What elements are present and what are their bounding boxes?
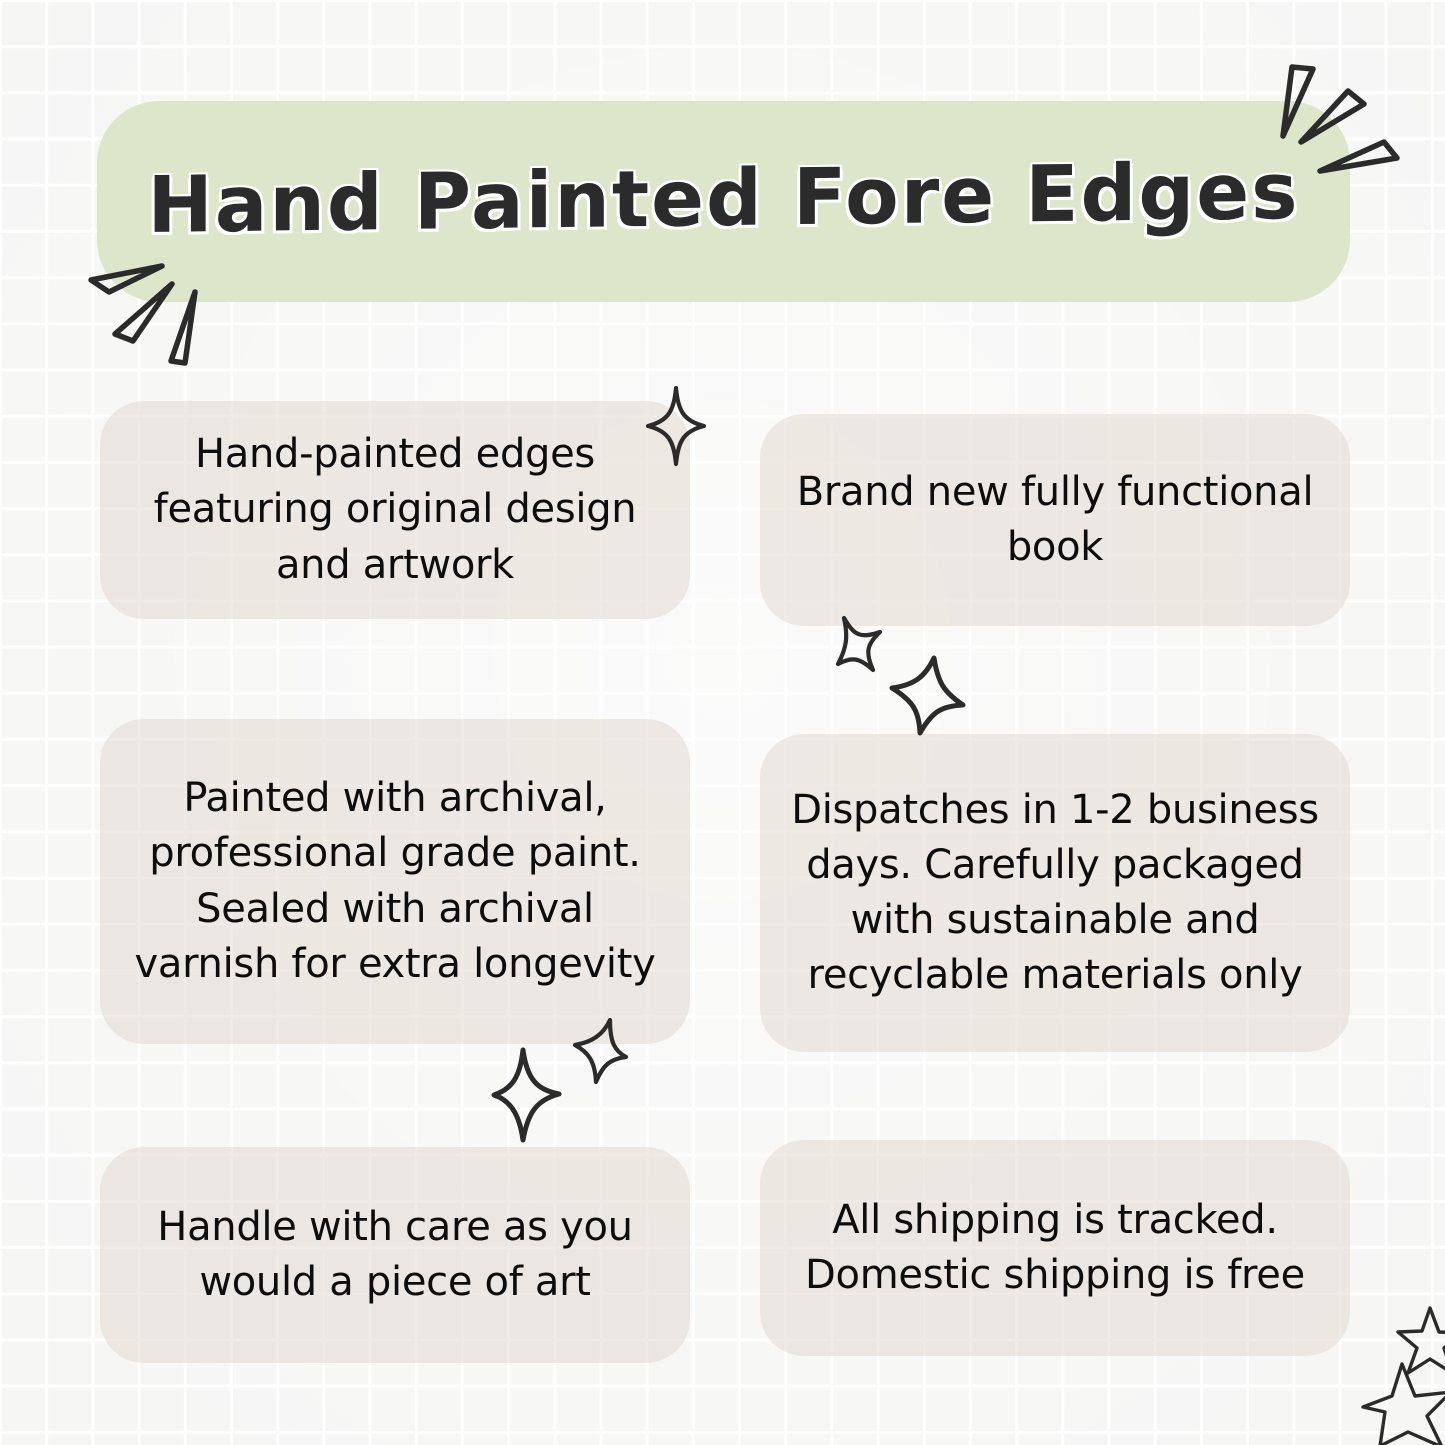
title-banner: Hand Painted Fore Edges (97, 101, 1350, 302)
infographic-canvas: Hand Painted Fore Edges Hand-painted edg… (0, 0, 1445, 1445)
feature-card: Hand-painted edges featuring original de… (100, 401, 690, 619)
feature-card-text: Handle with care as you would a piece of… (128, 1200, 662, 1310)
feature-card: Dispatches in 1-2 business days. Careful… (760, 734, 1350, 1052)
feature-card: Handle with care as you would a piece of… (100, 1147, 690, 1363)
feature-card-text: Painted with archival, professional grad… (128, 771, 662, 992)
page-title: Hand Painted Fore Edges (97, 93, 1350, 309)
feature-card-text: Brand new fully functional book (788, 465, 1322, 575)
feature-card-grid: Hand-painted edges featuring original de… (100, 398, 1350, 1363)
feature-card-text: Dispatches in 1-2 business days. Careful… (788, 783, 1322, 1004)
feature-card-text: All shipping is tracked. Domestic shippi… (788, 1193, 1322, 1303)
feature-card: Brand new fully functional book (760, 414, 1350, 626)
feature-card: All shipping is tracked. Domestic shippi… (760, 1140, 1350, 1356)
feature-card-text: Hand-painted edges featuring original de… (128, 427, 662, 593)
feature-card: Painted with archival, professional grad… (100, 719, 690, 1044)
